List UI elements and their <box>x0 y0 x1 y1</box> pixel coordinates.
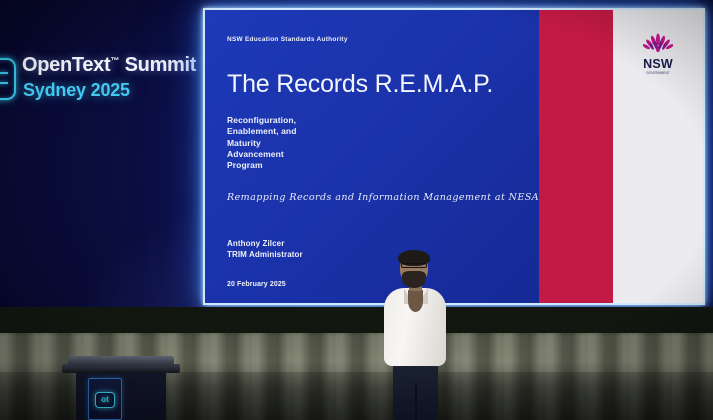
acronym-line: Reconfiguration, <box>227 115 297 126</box>
acronym-line: Enablement, and <box>227 126 297 137</box>
presenter-glasses-icon <box>401 263 427 268</box>
lectern: ot <box>62 352 180 420</box>
acronym-line: Maturity <box>227 138 297 149</box>
presenter-neckline <box>408 290 423 312</box>
trademark-symbol: ™ <box>110 55 119 65</box>
slide-date: 20 February 2025 <box>227 281 286 288</box>
event-title-main: OpenText <box>22 54 110 76</box>
slide-tagline: Remapping Records and Information Manage… <box>227 192 539 203</box>
projection-screen: NSW Education Standards Authority The Re… <box>203 8 705 305</box>
slide-acronym-expansion: Reconfiguration, Enablement, and Maturit… <box>227 115 297 171</box>
lectern-surface <box>68 356 174 366</box>
nsw-wordmark: NSW <box>643 58 673 70</box>
stage-scene: OpenText™ Summit Sydney 2025 NSW Educati… <box>0 0 713 420</box>
event-title: OpenText™ Summit <box>22 54 196 77</box>
slide-content-area: NSW Education Standards Authority The Re… <box>205 10 539 303</box>
event-title-suffix: Summit <box>119 54 196 76</box>
presenter-name: Anthony Zilcer <box>227 238 303 249</box>
curtain-valance <box>0 307 713 333</box>
presentation-slide: NSW Education Standards Authority The Re… <box>205 10 703 303</box>
event-branding: OpenText™ Summit Sydney 2025 <box>0 52 200 132</box>
slide-title: The Records R.E.M.A.P. <box>227 70 493 99</box>
presenter-role: TRIM Administrator <box>227 249 303 260</box>
opentext-bracket-icon <box>0 58 16 100</box>
nsw-logo-tagline: GOVERNMENT <box>643 71 673 75</box>
slide-eyebrow: NSW Education Standards Authority <box>227 36 348 43</box>
presenter-beard <box>402 271 426 288</box>
slide-red-band <box>539 10 613 303</box>
presenter-leg-split <box>415 384 417 420</box>
acronym-line: Program <box>227 160 297 171</box>
presenter-on-stage <box>376 252 454 420</box>
slide-white-band: NSW GOVERNMENT <box>613 10 703 303</box>
nsw-waratah-icon <box>643 32 673 52</box>
acronym-line: Advancement <box>227 149 297 160</box>
nsw-government-logo: NSW GOVERNMENT <box>643 32 673 75</box>
slide-presenter-block: Anthony Zilcer TRIM Administrator <box>227 238 303 260</box>
lectern-logo-text: ot <box>101 396 109 404</box>
opentext-ot-icon: ot <box>95 392 115 408</box>
event-subtitle: Sydney 2025 <box>23 80 130 101</box>
